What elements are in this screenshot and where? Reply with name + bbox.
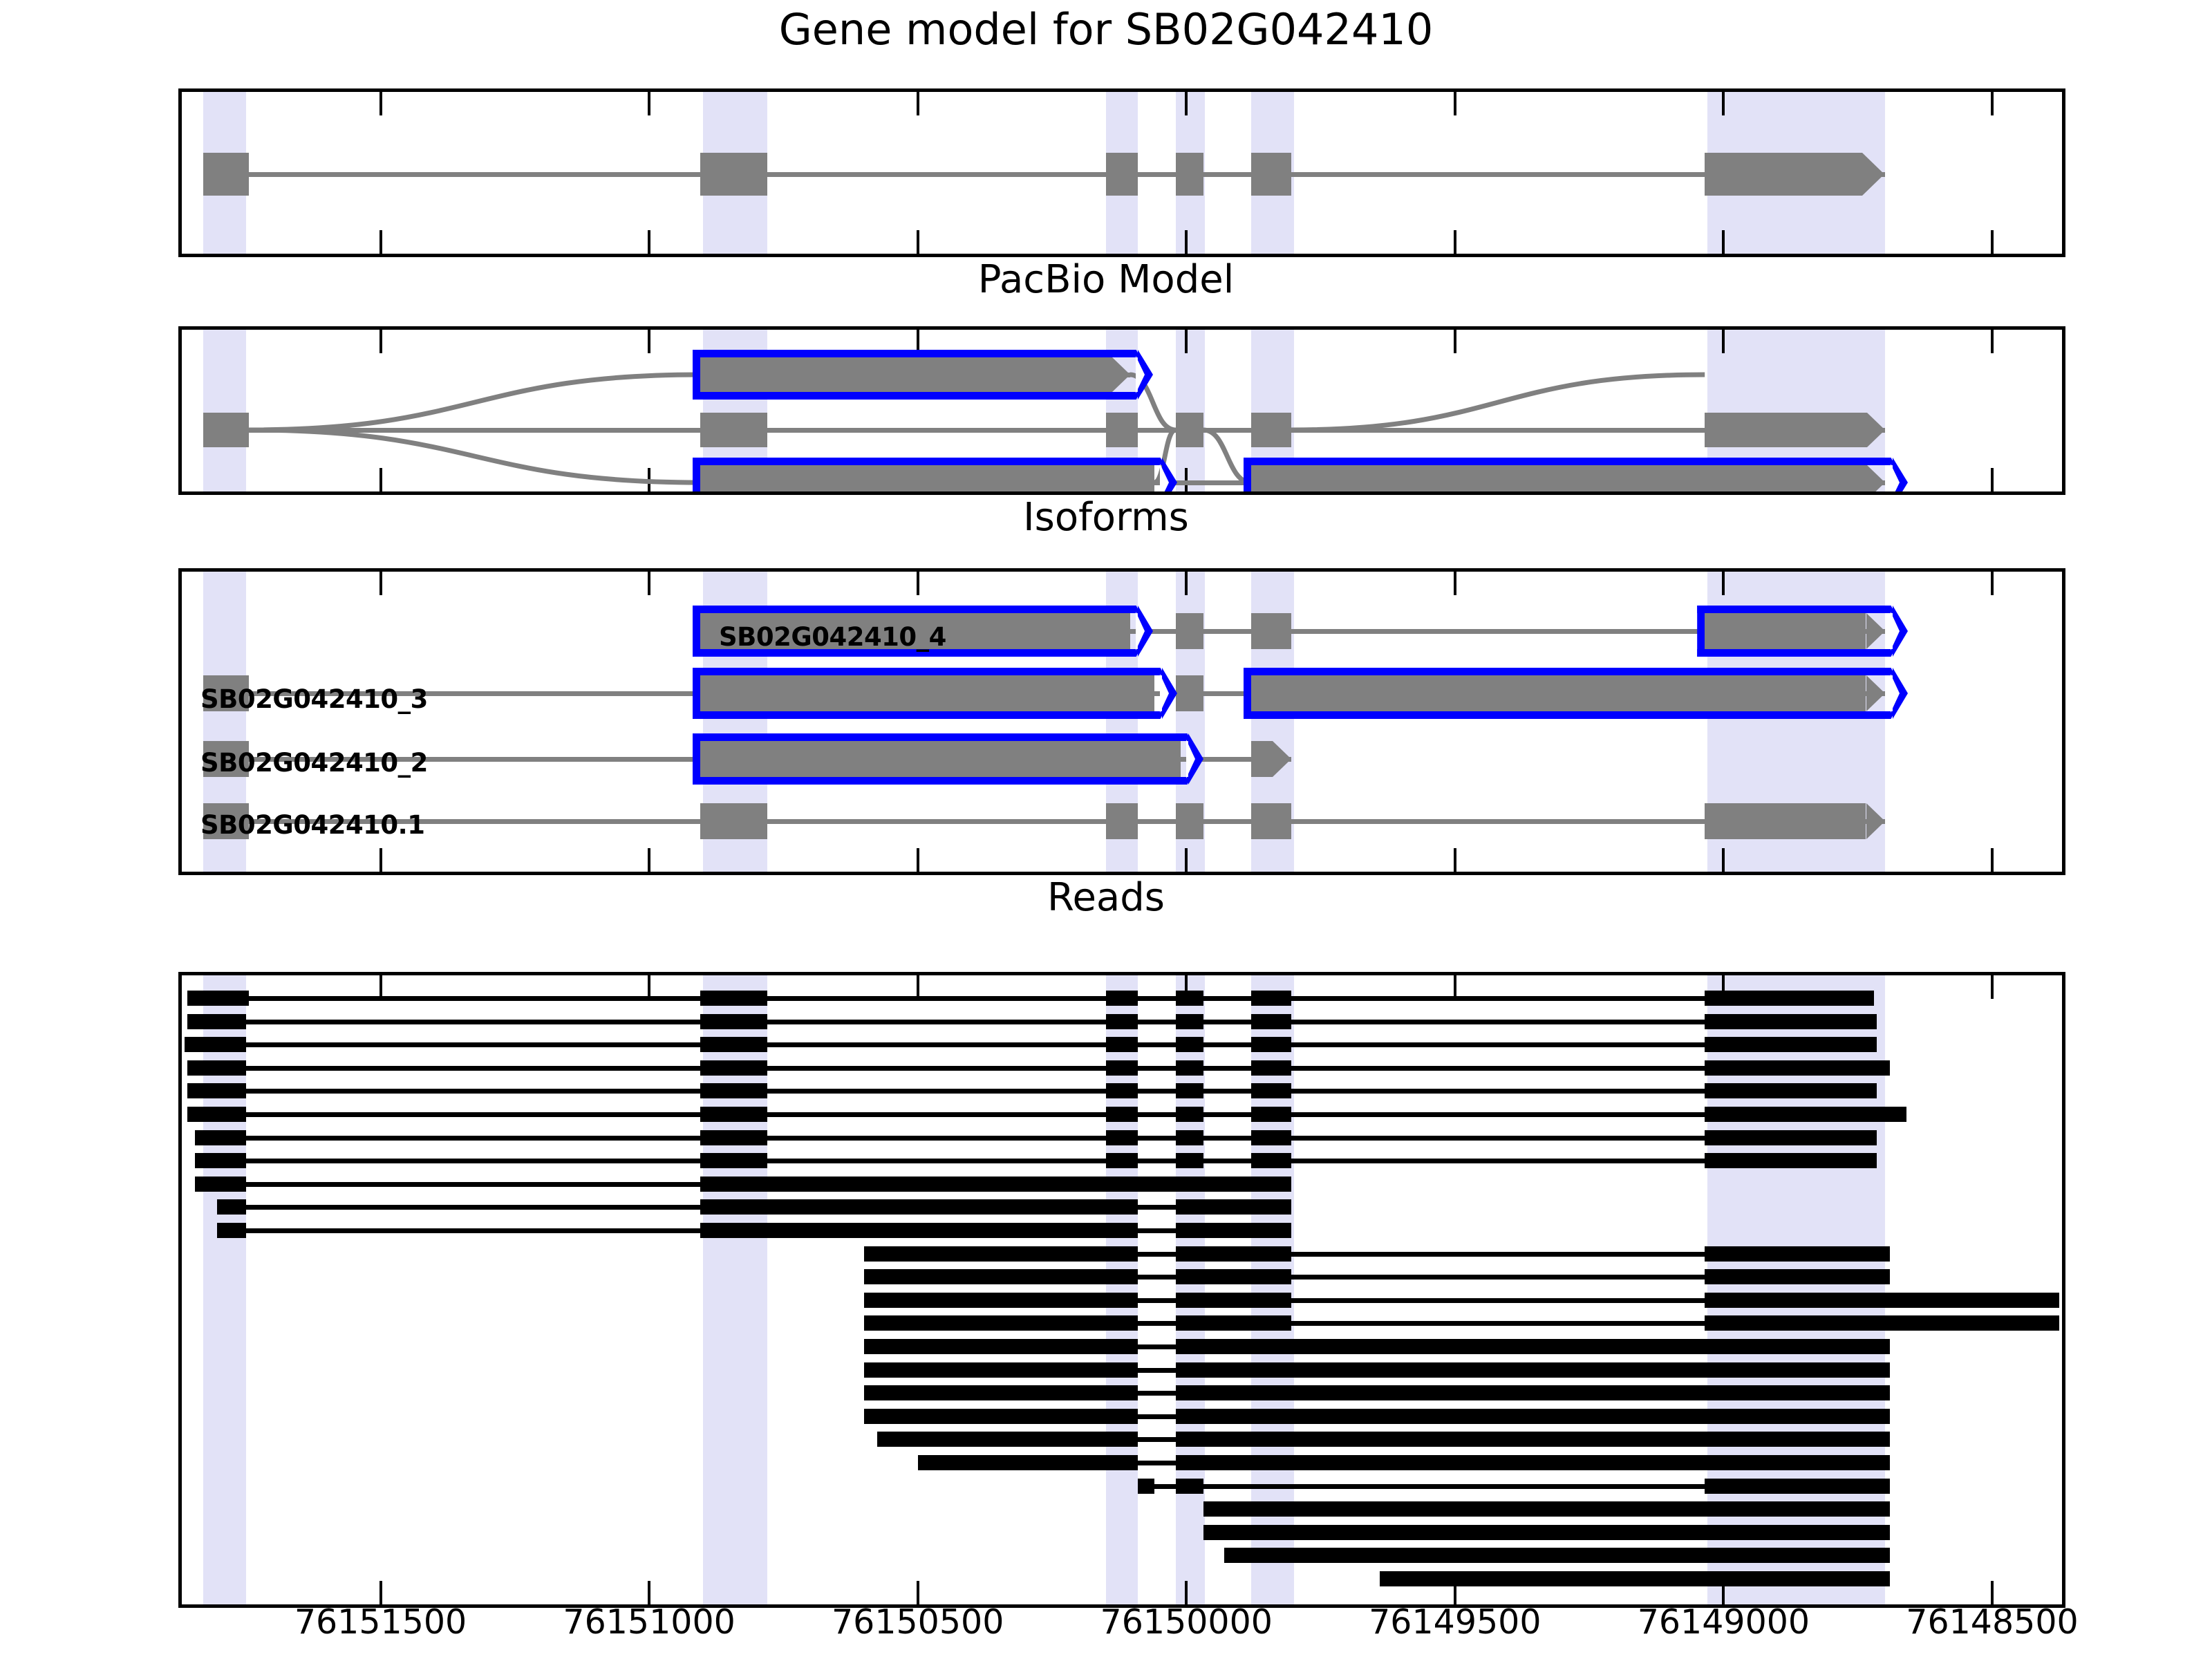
reads-panel	[178, 972, 2065, 1608]
exon-block	[1251, 413, 1291, 447]
exon-block	[700, 1083, 767, 1098]
exon-block	[1705, 1479, 1890, 1494]
axis-tick	[1991, 230, 1994, 254]
x-axis-tick-label: 76148500	[1906, 1602, 2078, 1642]
exon-block	[1176, 1315, 1291, 1331]
axis-tick	[648, 92, 650, 115]
exon-block	[1176, 803, 1203, 839]
highlighted-transcript-outline	[693, 733, 1201, 785]
transcript-arrow-inner	[1891, 612, 1900, 650]
exon-block	[1176, 1153, 1203, 1168]
axis-tick	[648, 572, 650, 595]
axis-tick	[1991, 92, 1994, 115]
axis-tick	[379, 572, 382, 595]
x-axis-tick-label: 76149000	[1638, 1602, 1810, 1642]
exon-block	[864, 1315, 1138, 1331]
intron-arc	[249, 375, 700, 430]
axis-tick	[379, 975, 382, 999]
exon-block	[1251, 1083, 1291, 1098]
axis-tick	[917, 848, 919, 872]
highlighted-transcript-outline	[1244, 458, 1905, 495]
exon-block	[187, 1107, 246, 1122]
highlighted-transcript-outline	[693, 668, 1174, 719]
exon-block	[1176, 1223, 1291, 1238]
exon-block	[1106, 1130, 1138, 1145]
highlighted-transcript-outline	[1697, 606, 1904, 657]
exon-block	[918, 1455, 1138, 1470]
gene-model-panel	[178, 88, 2065, 257]
axis-tick	[1185, 848, 1188, 872]
axis-tick	[1991, 975, 1994, 999]
axis-tick	[917, 92, 919, 115]
axis-tick	[1454, 92, 1456, 115]
exon-block	[1705, 1107, 1906, 1122]
transcript-arrow-inner	[1160, 464, 1169, 495]
exon-block	[203, 413, 249, 447]
transcript-arrow-inner	[1186, 740, 1195, 778]
axis-tick	[1454, 572, 1456, 595]
exon-block	[1176, 1409, 1891, 1424]
intron-line	[187, 1089, 1877, 1094]
axis-tick	[648, 975, 650, 999]
exon-block	[864, 1385, 1138, 1400]
exon-block	[1705, 1060, 1890, 1076]
exon-block	[1251, 1107, 1291, 1122]
exon-block	[187, 1014, 246, 1029]
exon-block	[1251, 991, 1291, 1006]
exon-block	[1203, 1501, 1890, 1517]
axis-tick	[1991, 572, 1994, 595]
axis-tick	[917, 1581, 919, 1604]
axis-tick	[1454, 975, 1456, 999]
exon-block	[195, 1153, 246, 1168]
intron-line	[203, 819, 1884, 824]
exon-block	[700, 413, 767, 447]
x-axis-tick-label: 76151500	[294, 1602, 467, 1642]
pacbio-model-panel	[178, 326, 2065, 495]
intron-line	[187, 1020, 1877, 1024]
axis-tick	[1185, 230, 1188, 254]
transcript-arrow-inner	[1136, 612, 1145, 650]
isoform-label: SB02G042410.1	[200, 810, 424, 840]
exon-block	[1705, 991, 1874, 1006]
exon-arrow-icon	[1866, 803, 1885, 839]
exon-block	[1705, 1153, 1877, 1168]
exon-block	[864, 1269, 1138, 1284]
highlighted-transcript-outline	[693, 350, 1150, 400]
exon-arrow-icon	[1273, 741, 1291, 777]
transcript-arrow-inner	[1891, 464, 1900, 495]
exon-block	[1106, 1037, 1138, 1052]
exon-block	[1176, 1432, 1891, 1447]
exon-block	[1203, 1525, 1890, 1540]
exon-block	[1176, 1037, 1203, 1052]
axis-tick	[1185, 1581, 1188, 1604]
exon-block	[217, 1223, 247, 1238]
exon-block	[1106, 153, 1138, 196]
highlighted-transcript-outline	[693, 458, 1174, 495]
exon-block	[700, 1223, 1138, 1238]
exon-block	[864, 1409, 1138, 1424]
x-axis-tick-label: 76150000	[1100, 1602, 1273, 1642]
axis-tick	[1991, 1581, 1994, 1604]
exon-block	[1176, 1199, 1291, 1215]
page-title: Gene model for SB02G042410	[0, 4, 2212, 55]
exon-block	[1251, 741, 1273, 777]
exon-block	[1106, 1153, 1138, 1168]
axis-tick	[1991, 848, 1994, 872]
exon-block	[1176, 1269, 1291, 1284]
exon-block	[1106, 413, 1138, 447]
intron-line	[185, 1042, 1877, 1047]
exon-block	[700, 1107, 767, 1122]
transcript-arrow-inner	[1891, 674, 1900, 713]
exon-block	[187, 991, 249, 1006]
exon-block	[1106, 1107, 1138, 1122]
exon-block	[203, 153, 249, 196]
exon-block	[1176, 1362, 1891, 1378]
exon-block	[1106, 991, 1138, 1006]
exon-block	[1251, 1153, 1291, 1168]
transcript-arrow-inner	[1136, 356, 1145, 393]
exon-block	[1176, 153, 1203, 196]
isoform-label: SB02G042410_3	[200, 684, 428, 714]
exon-block	[1176, 675, 1203, 711]
axis-tick	[917, 572, 919, 595]
exon-block	[1106, 803, 1138, 839]
exon-block	[700, 1177, 1291, 1192]
axis-tick	[1722, 92, 1725, 115]
exon-block	[1251, 1130, 1291, 1145]
exon-block	[1224, 1548, 1891, 1563]
exon-block	[1176, 1246, 1291, 1262]
exon-block	[1251, 1060, 1291, 1076]
axis-tick	[1454, 230, 1456, 254]
exon-block	[1705, 153, 1862, 196]
highlighted-transcript-outline	[1244, 668, 1905, 719]
axis-tick	[379, 230, 382, 254]
exon-arrow-icon	[1862, 153, 1884, 196]
exon-block	[1705, 1037, 1877, 1052]
isoform-label: SB02G042410_4	[719, 622, 946, 652]
exon-block	[185, 1037, 246, 1052]
exon-block	[1251, 613, 1291, 649]
exon-block	[700, 991, 767, 1006]
exon-block	[1106, 1083, 1138, 1098]
exon-block	[1705, 413, 1866, 447]
intron-line	[187, 996, 1874, 1001]
exon-block	[1176, 991, 1203, 1006]
axis-tick	[1454, 848, 1456, 872]
exon-block	[864, 1246, 1138, 1262]
exon-block	[1176, 413, 1203, 447]
transcript-arrow-inner	[1160, 674, 1169, 713]
axis-tick	[648, 1581, 650, 1604]
exon-block	[187, 1060, 246, 1076]
exon-block	[700, 1130, 767, 1145]
exon-block	[1138, 1479, 1154, 1494]
intron-arc	[1291, 375, 1705, 430]
exon-block	[1176, 1130, 1203, 1145]
intron-line	[203, 428, 1884, 433]
exon-block	[1705, 1130, 1877, 1145]
axis-tick	[917, 975, 919, 999]
axis-tick	[1185, 92, 1188, 115]
exon-block	[1380, 1571, 1890, 1586]
exon-block	[700, 803, 767, 839]
intron-arc	[249, 430, 700, 482]
exon-block	[1251, 153, 1291, 196]
exon-block	[195, 1177, 246, 1192]
exon-block	[1176, 1385, 1891, 1400]
intron-line	[203, 172, 1884, 177]
exon-block	[1705, 1269, 1890, 1284]
axis-tick	[648, 230, 650, 254]
exon-block	[1705, 1083, 1877, 1098]
panel-title-isoforms: Isoforms	[0, 495, 2212, 540]
axis-tick	[1185, 572, 1188, 595]
isoform-label: SB02G042410_2	[200, 748, 428, 778]
axis-tick	[379, 1581, 382, 1604]
exon-block	[1176, 1479, 1203, 1494]
exon-block	[700, 1060, 767, 1076]
exon-block	[700, 1037, 767, 1052]
exon-block	[1705, 1315, 2059, 1331]
exon-block	[877, 1432, 1138, 1447]
intron-line	[187, 1112, 1906, 1117]
axis-tick	[379, 92, 382, 115]
exon-block	[1705, 1293, 2059, 1308]
intron-line	[195, 1159, 1876, 1163]
exon-block	[1251, 1037, 1291, 1052]
exon-block	[1176, 1455, 1891, 1470]
exon-arrow-icon	[1867, 413, 1885, 447]
exon-block	[1176, 1339, 1891, 1354]
panel-title-pacbio: PacBio Model	[0, 257, 2212, 302]
exon-block	[187, 1083, 246, 1098]
intron-line	[195, 1136, 1876, 1141]
exon-block	[1251, 803, 1291, 839]
exon-block	[1106, 1060, 1138, 1076]
exon-block	[1106, 1014, 1138, 1029]
intron-line	[187, 1066, 1891, 1071]
exon-block	[1176, 1014, 1203, 1029]
axis-tick	[648, 848, 650, 872]
exon-block	[864, 1293, 1138, 1308]
exon-block	[217, 1199, 247, 1215]
exon-block	[864, 1339, 1138, 1354]
axis-tick	[1722, 572, 1725, 595]
axis-tick	[1722, 230, 1725, 254]
exon-block	[1705, 1014, 1877, 1029]
exon-block	[864, 1362, 1138, 1378]
isoforms-panel	[178, 568, 2065, 875]
exon-block	[1176, 1293, 1291, 1308]
axis-tick	[1722, 848, 1725, 872]
panel-title-reads: Reads	[0, 875, 2212, 920]
exon-block	[1176, 1060, 1203, 1076]
exon-block	[1176, 1107, 1203, 1122]
exon-block	[1176, 1083, 1203, 1098]
axis-tick	[379, 848, 382, 872]
exon-block	[700, 1153, 767, 1168]
x-axis-tick-label: 76149500	[1369, 1602, 1541, 1642]
exon-block	[1705, 803, 1866, 839]
x-axis-tick-label: 76151000	[563, 1602, 735, 1642]
exon-block	[1251, 1014, 1291, 1029]
exon-block	[700, 1199, 1138, 1215]
exon-block	[700, 153, 767, 196]
axis-tick	[917, 230, 919, 254]
exon-block	[195, 1130, 246, 1145]
exon-block	[700, 1014, 767, 1029]
x-axis-tick-label: 76150500	[832, 1602, 1004, 1642]
exon-block	[1705, 1246, 1890, 1262]
exon-block	[1176, 613, 1203, 649]
